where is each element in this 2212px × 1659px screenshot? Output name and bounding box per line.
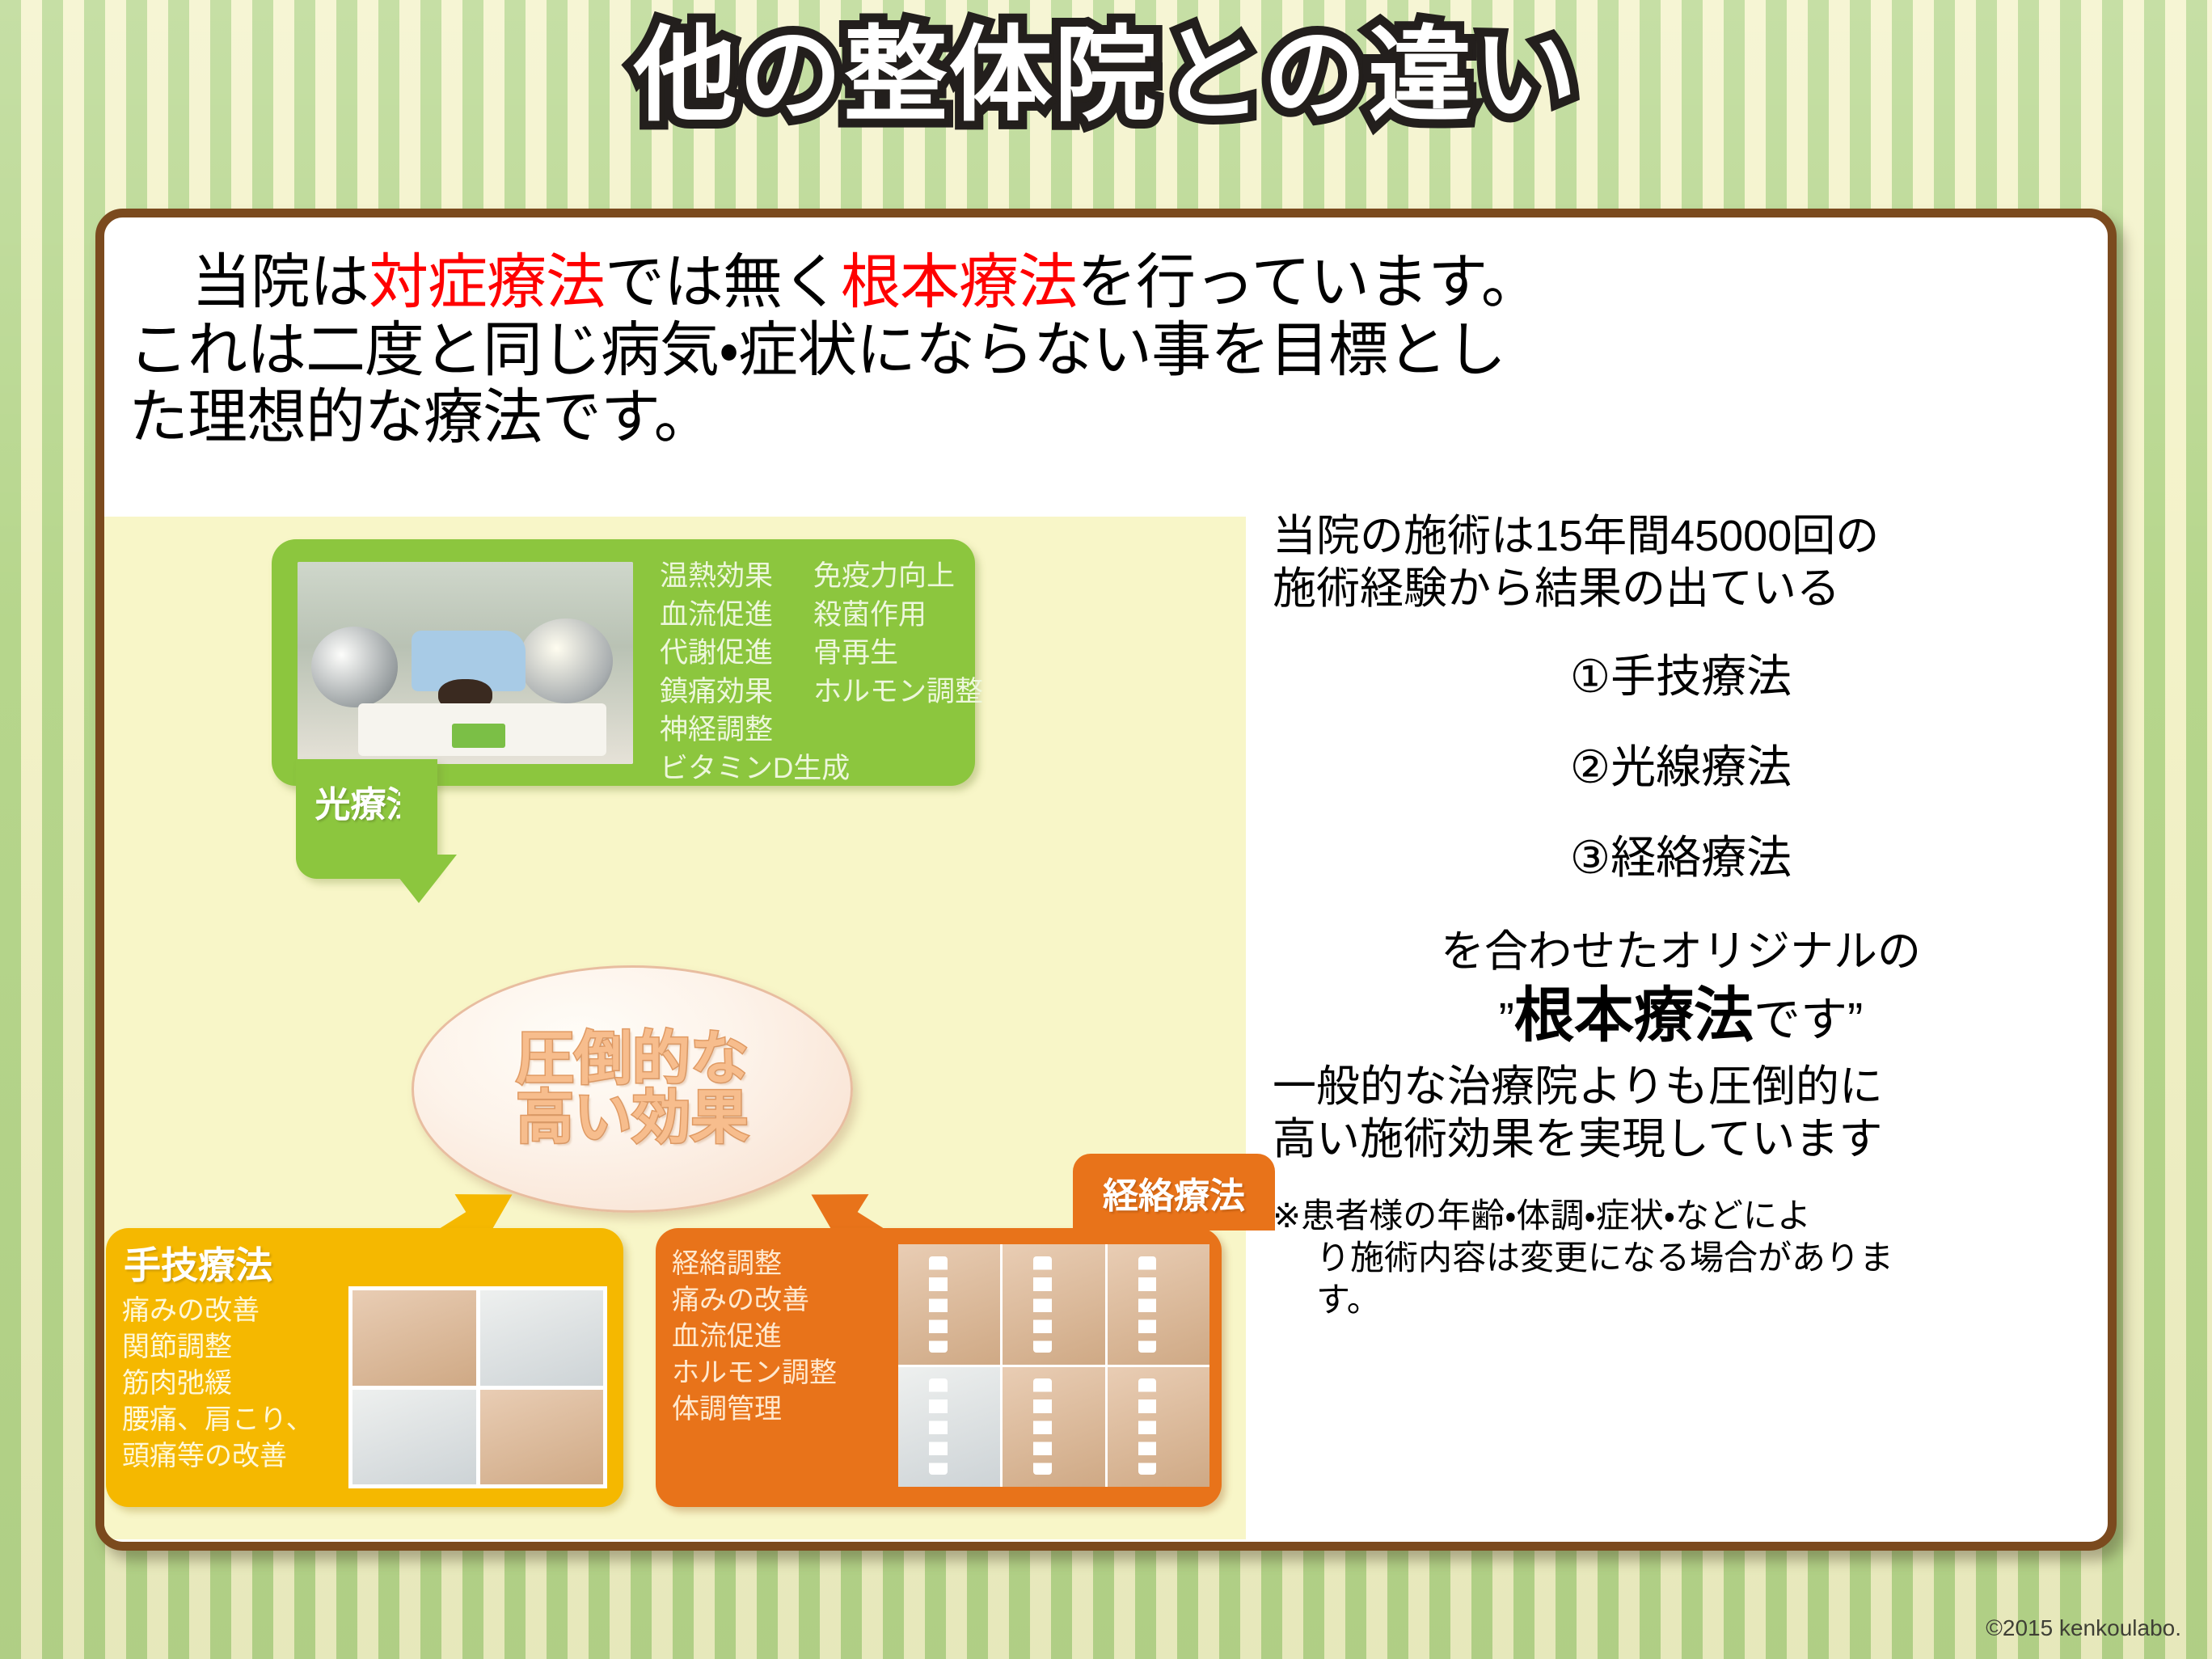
meridian-therapy-label: 経絡療法 (1073, 1154, 1275, 1231)
list-item: 腰痛、肩こり、 (122, 1402, 314, 1438)
copyright-text: ©2015 kenkoulabo. (1986, 1615, 2181, 1641)
intro-line2: これは二度と同じ病気・症状にならない事を目標とし (129, 316, 1988, 384)
photo-tile (1003, 1244, 1104, 1365)
combination-text: を合わせたオリジナルの (1273, 926, 2089, 978)
manual-therapy-label: 手技療法 (124, 1236, 272, 1290)
content-card: 当院は対症療法では無く根本療法を行っています。 これは二度と同じ病気・症状になら… (95, 209, 2117, 1551)
benefit-left: 鎮痛効果 (660, 673, 813, 711)
down-arrow-icon (381, 759, 457, 903)
list-item: 頭痛等の改善 (122, 1438, 314, 1475)
meridian-therapy-photo-grid (898, 1244, 1209, 1487)
oval-line-2: 高い効果 (516, 1089, 749, 1148)
intro-highlight-symptomatic: 対症療法 (369, 248, 605, 315)
benefit-row: 鎮痛効果ホルモン調整 (660, 673, 983, 711)
disclaimer-note: ※患者様の年齢・体調・症状・などによ り施術内容は変更になる場合がありま す。 (1273, 1195, 2089, 1321)
manual-therapy-box: 手技療法 痛みの改善 関節調整 筋肉弛緩 腰痛、肩こり、 頭痛等の改善 (106, 1228, 623, 1507)
benefit-left: 神経調整 (660, 711, 813, 749)
meridian-therapy-box: 経絡療法 経絡調整 痛みの改善 血流促進 ホルモン調整 体調管理 (656, 1228, 1222, 1507)
therapy-diagram-panel: 温熱効果免疫力向上 血流促進殺菌作用 代謝促進骨再生 鎮痛効果ホルモン調整 神経… (95, 517, 1246, 1539)
right-text-column: 当院の施術は15年間45000回の 施術経験から結果の出ている ①手技療法 ②光… (1273, 510, 2089, 1321)
light-therapy-benefit-list: 温熱効果免疫力向上 血流促進殺菌作用 代謝促進骨再生 鎮痛効果ホルモン調整 神経… (660, 557, 983, 788)
manual-therapy-list: 痛みの改善 関節調整 筋肉弛緩 腰痛、肩こり、 頭痛等の改善 (122, 1293, 314, 1474)
list-item: 関節調整 (122, 1329, 314, 1366)
benefit-left: 温熱効果 (660, 557, 813, 596)
oval-line-1: 圧倒的な (516, 1030, 749, 1089)
effectiveness-claim: 一般的な治療院よりも圧倒的に 高い施術効果を実現しています (1273, 1061, 2089, 1166)
photo-tile (898, 1244, 1000, 1365)
benefit-row: 代謝促進骨再生 (660, 634, 983, 673)
photo-tile (480, 1390, 604, 1485)
list-item: 痛みの改善 (122, 1293, 314, 1329)
list-item: 血流促進 (672, 1319, 837, 1355)
list-item: 経絡調整 (672, 1246, 837, 1282)
benefit-right: 殺菌作用 (813, 596, 927, 635)
root-therapy-word: 根本療法 (1514, 981, 1754, 1049)
therapy-numbered-list: ①手技療法 ②光線療法 ③経絡療法 (1273, 654, 2089, 880)
numbered-item-3: ③経絡療法 (1273, 835, 2089, 880)
photo-tile (898, 1367, 1000, 1488)
photo-tile (352, 1390, 476, 1485)
photo-tile (480, 1290, 604, 1386)
result-oval-text: 圧倒的な 高い効果 (516, 1030, 749, 1149)
benefit-row: 神経調整 (660, 711, 983, 749)
photo-tile (352, 1290, 476, 1386)
intro-text-a: 当院は (192, 248, 369, 315)
lead-line-1: 当院の施術は15年間45000回の (1273, 510, 2089, 563)
photo-tile (1108, 1244, 1209, 1365)
benefit-right: 免疫力向上 (813, 557, 955, 596)
intro-line3: た理想的な療法です。 (129, 383, 1988, 451)
note-line-3: す。 (1273, 1279, 2089, 1321)
benefit-row: 血流促進殺菌作用 (660, 596, 983, 635)
quote-close: です” (1754, 994, 1863, 1046)
intro-highlight-root: 根本療法 (841, 248, 1077, 315)
photo-tile (1003, 1367, 1104, 1488)
manual-therapy-photo-grid (348, 1286, 607, 1488)
claim-line-2: 高い施術効果を実現しています (1273, 1113, 2089, 1166)
lead-paragraph: 当院の施術は15年間45000回の 施術経験から結果の出ている (1273, 510, 2089, 615)
benefit-right: 骨再生 (813, 634, 898, 673)
benefit-right: ホルモン調整 (813, 673, 983, 711)
intro-text-c: を行っています。 (1077, 248, 1540, 315)
list-item: 痛みの改善 (672, 1282, 837, 1319)
list-item: 体調管理 (672, 1391, 837, 1428)
title-banner: 他の整体院との違い (0, 19, 2212, 133)
numbered-item-1: ①手技療法 (1273, 654, 2089, 699)
benefit-left: ビタミンD生成 (660, 749, 813, 788)
list-item: 筋肉弛緩 (122, 1366, 314, 1402)
page-title: 他の整体院との違い (634, 24, 1579, 128)
benefit-row: ビタミンD生成 (660, 749, 983, 788)
light-therapy-photo (298, 562, 633, 764)
numbered-item-2: ②光線療法 (1273, 745, 2089, 790)
benefit-row: 温熱効果免疫力向上 (660, 557, 983, 596)
benefit-left: 代謝促進 (660, 634, 813, 673)
intro-paragraph: 当院は対症療法では無く根本療法を行っています。 これは二度と同じ病気・症状になら… (129, 248, 1988, 451)
photo-tile (1108, 1367, 1209, 1488)
meridian-therapy-list: 経絡調整 痛みの改善 血流促進 ホルモン調整 体調管理 (672, 1246, 837, 1427)
root-therapy-emphasis: ”根本療法です” (1273, 981, 2089, 1049)
benefit-left: 血流促進 (660, 596, 813, 635)
list-item: ホルモン調整 (672, 1355, 837, 1391)
quote-open: ” (1499, 994, 1514, 1046)
note-line-2: り施術内容は変更になる場合がありま (1273, 1237, 2089, 1279)
intro-text-b: では無く (605, 248, 841, 315)
light-therapy-box: 温熱効果免疫力向上 血流促進殺菌作用 代謝促進骨再生 鎮痛効果ホルモン調整 神経… (272, 539, 975, 786)
lead-line-2: 施術経験から結果の出ている (1273, 563, 2089, 615)
claim-line-1: 一般的な治療院よりも圧倒的に (1273, 1061, 2089, 1113)
note-line-1: ※患者様の年齢・体調・症状・などによ (1273, 1195, 2089, 1237)
